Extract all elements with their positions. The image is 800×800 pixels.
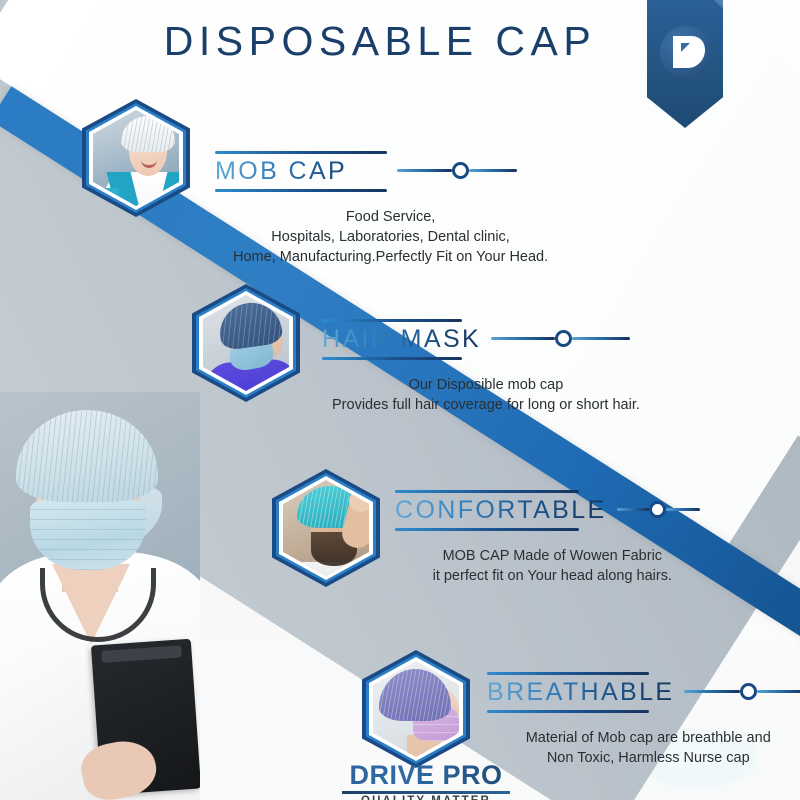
infographic-poster: DISPOSABLE CAP MOB CAP xyxy=(0,0,800,800)
feature-body-line: Our Disposible mob cap xyxy=(332,375,640,395)
feature-hair-mask: HAIR MASK Our Disposible mob cap Provide… xyxy=(322,312,640,415)
feature-body: Material of Mob cap are breathble and No… xyxy=(491,728,800,768)
clipboard-clamp xyxy=(101,645,182,663)
connector-dot xyxy=(452,162,469,179)
heading-rule-bottom xyxy=(322,357,462,360)
feature-body: Our Disposible mob cap Provides full hai… xyxy=(332,375,640,415)
feature-connector xyxy=(491,329,630,349)
heading-rule-top xyxy=(322,319,462,322)
feature-heading: MOB CAP xyxy=(215,159,387,185)
heading-rule-top xyxy=(395,490,579,493)
feature-body-line: it perfect fit on Your head along hairs. xyxy=(405,566,700,586)
feature-body-line: Food Service, xyxy=(233,207,548,227)
heading-rule-bottom xyxy=(487,710,649,713)
connector-line-left xyxy=(491,337,555,340)
feature-body-line: Provides full hair coverage for long or … xyxy=(332,395,640,415)
feature-body-line: Hospitals, Laboratories, Dental clinic, xyxy=(233,227,548,247)
connector-dot xyxy=(740,683,757,700)
page-title-text: DISPOSABLE CAP xyxy=(164,18,596,64)
feature-body-line: MOB CAP Made of Wowen Fabric xyxy=(405,546,700,566)
feature-connector xyxy=(617,500,700,520)
feature-heading-box: MOB CAP xyxy=(215,144,387,198)
feature-mob-cap: MOB CAP Food Service, Hospitals, Laborat… xyxy=(215,144,548,267)
doctor-photo xyxy=(0,392,200,800)
feature-body: MOB CAP Made of Wowen Fabric it perfect … xyxy=(405,546,700,586)
feature-heading-row: BREATHABLE xyxy=(487,665,800,719)
feature-body-line: Non Toxic, Harmless Nurse cap xyxy=(491,748,800,768)
feature-breathable: BREATHABLE Material of Mob cap are breat… xyxy=(487,665,800,768)
feature-heading-row: HAIR MASK xyxy=(322,312,640,366)
connector-dot xyxy=(555,330,572,347)
heading-rule-bottom xyxy=(215,189,387,192)
feature-heading: BREATHABLE xyxy=(487,680,674,706)
feature-confortable: CONFORTABLE MOB CAP Made of Wowen Fabric… xyxy=(395,483,700,586)
heading-rule-bottom xyxy=(395,528,579,531)
connector-line-right xyxy=(469,169,517,172)
connector-line-right xyxy=(757,690,800,693)
feature-heading-row: MOB CAP xyxy=(215,144,548,198)
feature-body: Food Service, Hospitals, Laboratories, D… xyxy=(233,207,548,267)
connector-line-left xyxy=(617,508,649,511)
feature-connector xyxy=(397,161,517,181)
feature-heading-box: HAIR MASK xyxy=(322,312,481,366)
connector-line-right xyxy=(666,508,700,511)
connector-line-right xyxy=(572,337,630,340)
feature-body-line: Home, Manufacturing.Perfectly Fit on You… xyxy=(233,247,548,267)
brand-underline xyxy=(342,791,510,794)
feature-heading-box: BREATHABLE xyxy=(487,665,674,719)
page-title: DISPOSABLE CAP xyxy=(0,18,760,65)
connector-line-left xyxy=(684,690,740,693)
feature-heading-box: CONFORTABLE xyxy=(395,483,607,537)
brand-lockup: DRIVE PRO QUALITY MATTER xyxy=(316,762,536,800)
feature-heading-row: CONFORTABLE xyxy=(395,483,700,537)
brand-name: DRIVE PRO xyxy=(316,762,536,789)
heading-rule-top xyxy=(215,151,387,154)
brand-tagline: QUALITY MATTER xyxy=(316,795,536,800)
woman-bouffant-cap xyxy=(379,669,451,721)
connector-line-left xyxy=(397,169,452,172)
feature-heading: HAIR MASK xyxy=(322,327,481,353)
feature-connector xyxy=(684,682,800,702)
drive-pro-d-icon xyxy=(660,26,712,78)
connector-dot xyxy=(649,501,666,518)
feature-body-line: Material of Mob cap are breathble and xyxy=(491,728,800,748)
heading-rule-top xyxy=(487,672,649,675)
feature-heading: CONFORTABLE xyxy=(395,498,607,524)
